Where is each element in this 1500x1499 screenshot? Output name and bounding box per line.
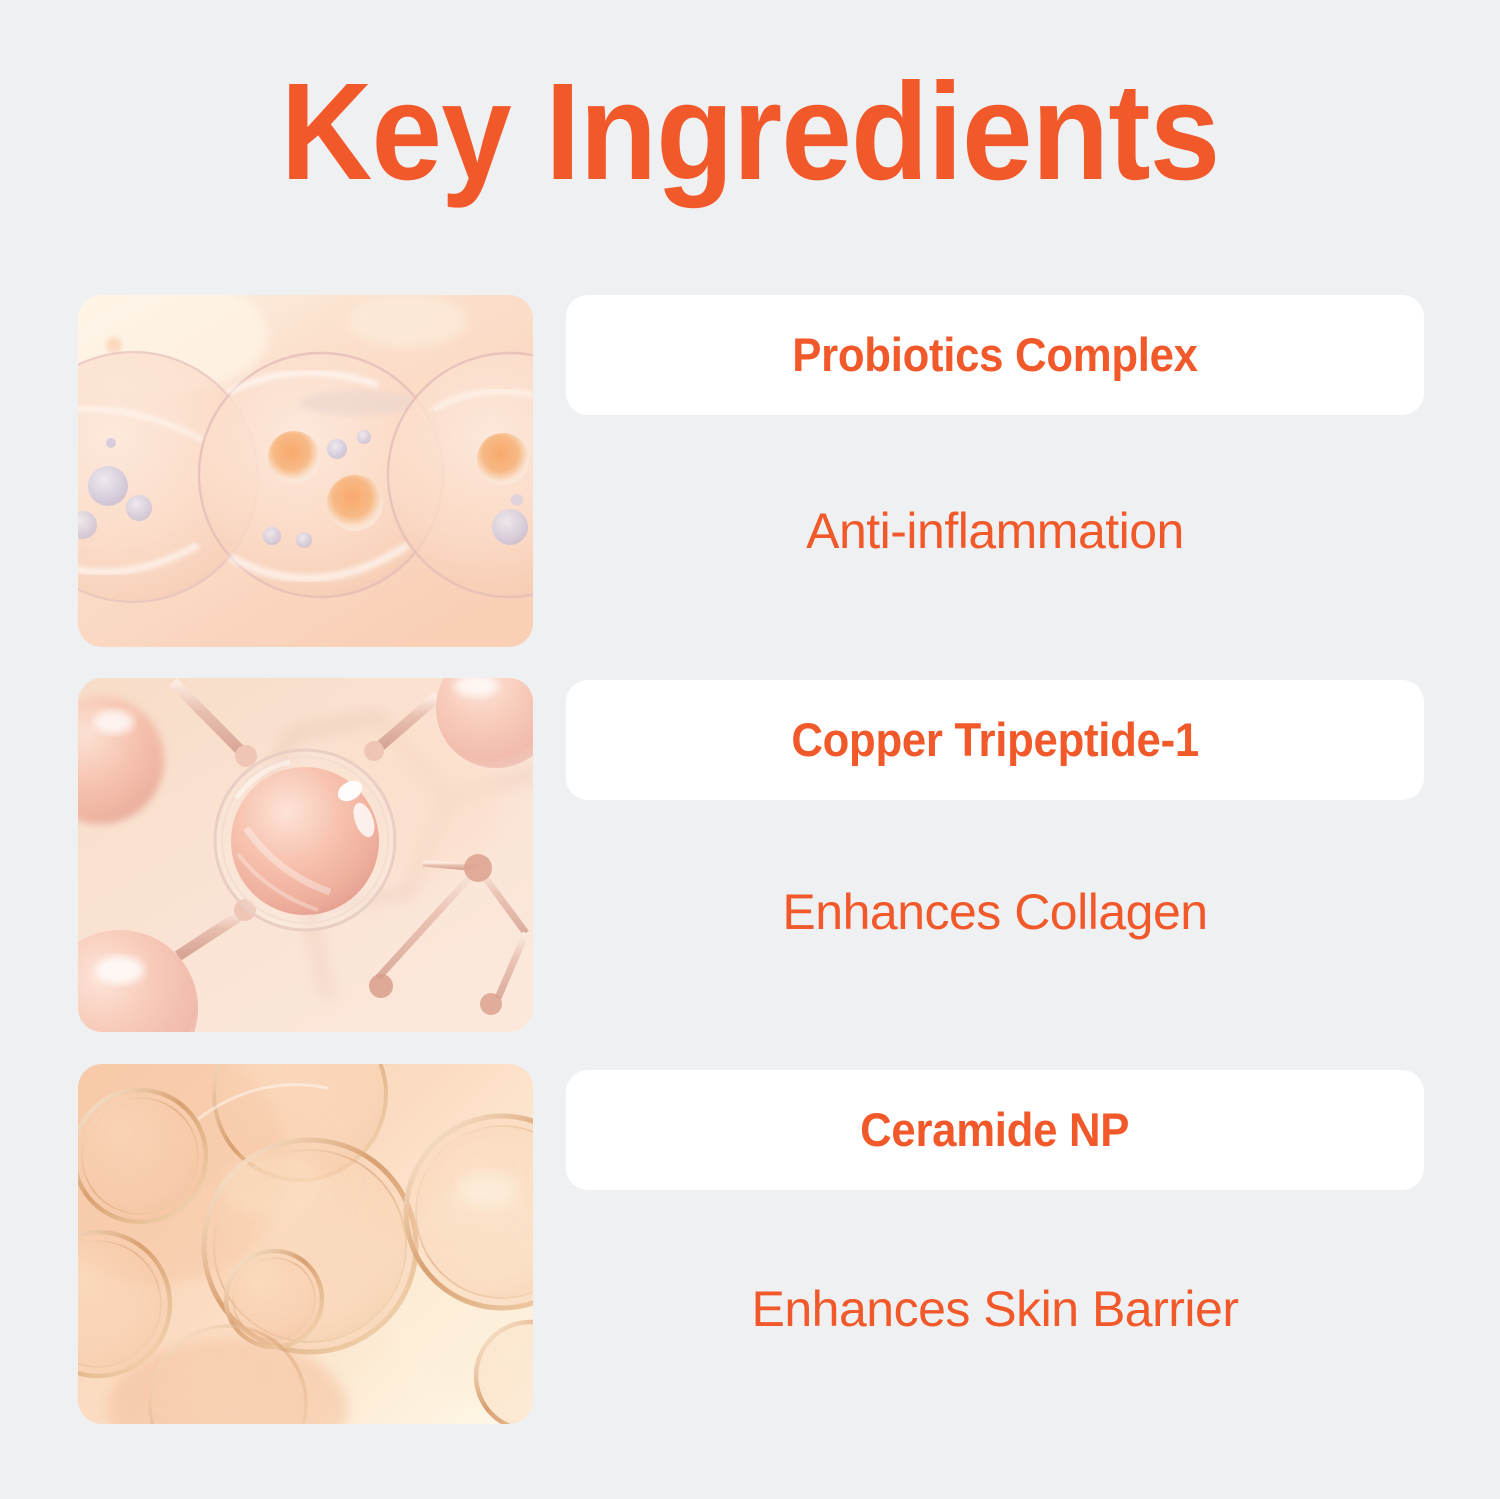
ingredient-benefit: Enhances Collagen (566, 883, 1424, 941)
ingredient-name-card[interactable]: Ceramide NP (566, 1070, 1424, 1190)
ingredient-name-card[interactable]: Copper Tripeptide-1 (566, 680, 1424, 800)
ingredient-benefit: Anti-inflammation (566, 502, 1424, 560)
probiotics-bubbles-image (78, 295, 533, 647)
ingredient-name: Probiotics Complex (792, 329, 1197, 381)
ingredient-row: Probiotics Complex Anti-inflammation (0, 295, 1500, 647)
ingredient-row: Ceramide NP Enhances Skin Barrier (0, 1064, 1500, 1424)
ingredient-text-column: Copper Tripeptide-1 Enhances Collagen (566, 678, 1424, 1032)
ingredient-name-card[interactable]: Probiotics Complex (566, 295, 1424, 415)
ingredient-name: Ceramide NP (860, 1104, 1129, 1156)
ingredient-row: Copper Tripeptide-1 Enhances Collagen (0, 678, 1500, 1032)
ingredient-list: Probiotics Complex Anti-inflammation (0, 0, 1500, 1499)
molecule-sphere-image (78, 678, 533, 1032)
ingredient-benefit: Enhances Skin Barrier (566, 1280, 1424, 1338)
ingredient-name: Copper Tripeptide-1 (791, 714, 1199, 766)
ingredient-text-column: Ceramide NP Enhances Skin Barrier (566, 1064, 1424, 1424)
ingredient-text-column: Probiotics Complex Anti-inflammation (566, 295, 1424, 647)
bubble-rings-image (78, 1064, 533, 1424)
